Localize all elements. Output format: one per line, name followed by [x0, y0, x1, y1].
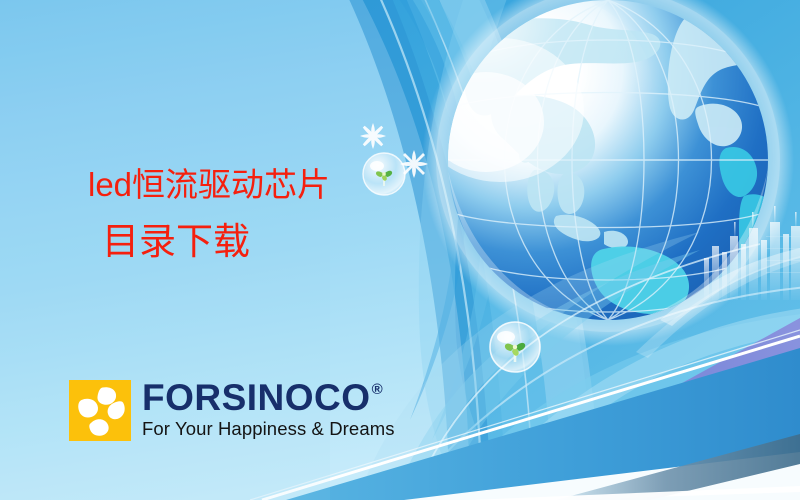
headline: led恒流驱动芯片 目录下载 — [88, 168, 330, 260]
forsinoco-pinwheel-logo — [69, 380, 131, 441]
logo: FORSINOCO ® For Your Happiness & Dreams — [69, 380, 395, 441]
banner-image: led恒流驱动芯片 目录下载 FORSINOCO ® — [0, 0, 800, 500]
headline-line-1: led恒流驱动芯片 — [88, 166, 330, 203]
pinwheel-bubble-lower — [490, 322, 540, 372]
pinwheel-bubble-upper — [363, 153, 405, 195]
logo-wordmark: FORSINOCO ® For Your Happiness & Dreams — [142, 380, 395, 440]
headline-line-2: 目录下载 — [102, 223, 330, 260]
registered-trademark-icon: ® — [372, 382, 383, 397]
brand-name: FORSINOCO — [142, 381, 371, 415]
brand-tagline: For Your Happiness & Dreams — [142, 418, 395, 440]
starburst-sparkle-left — [360, 123, 386, 149]
